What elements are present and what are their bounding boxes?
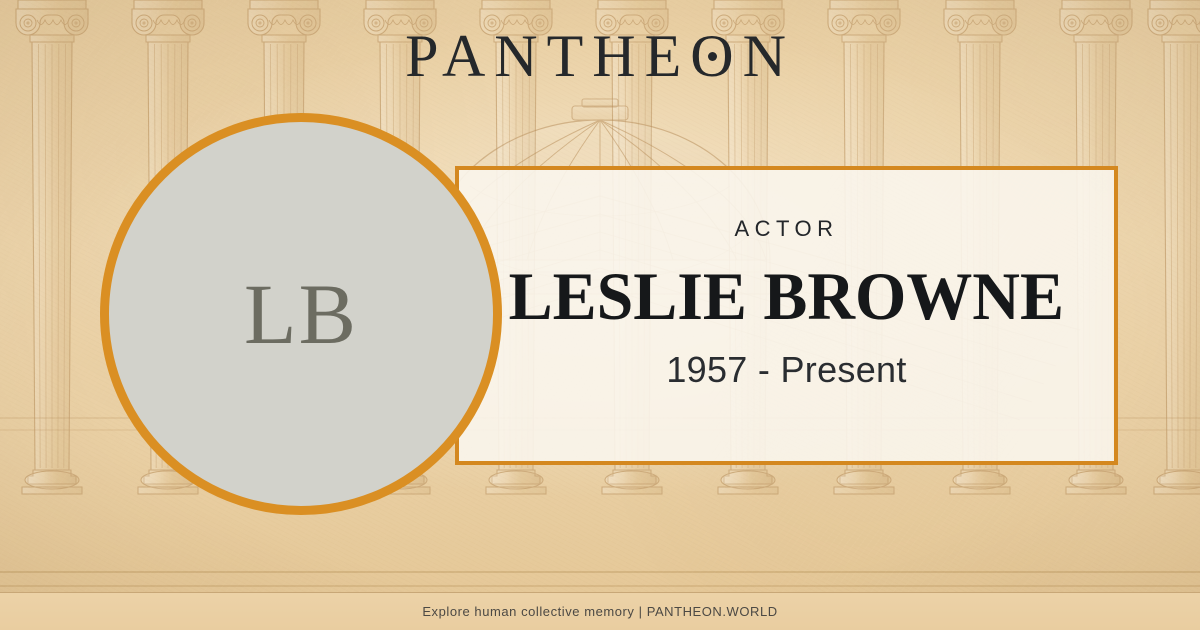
footer-bar: Explore human collective memory | PANTHE… xyxy=(0,592,1200,630)
person-name: LESLIE BROWNE xyxy=(509,262,1064,330)
avatar: LB xyxy=(100,113,502,515)
wordmark-part-after: N xyxy=(743,23,795,89)
wordmark-part-before: PANTHE xyxy=(405,23,690,89)
pantheon-share-card: PANTHEON LB ACTOR LESLIE BROWNE 1957 - P… xyxy=(0,0,1200,630)
person-info-card: ACTOR LESLIE BROWNE 1957 - Present xyxy=(455,166,1118,465)
footer-tagline: Explore human collective memory | PANTHE… xyxy=(422,604,777,619)
lifespan-label: 1957 - Present xyxy=(666,352,906,388)
wordmark-letter-o: O xyxy=(690,26,742,86)
occupation-label: ACTOR xyxy=(734,218,838,240)
avatar-initials: LB xyxy=(244,271,358,357)
pantheon-wordmark: PANTHEON xyxy=(0,26,1200,86)
